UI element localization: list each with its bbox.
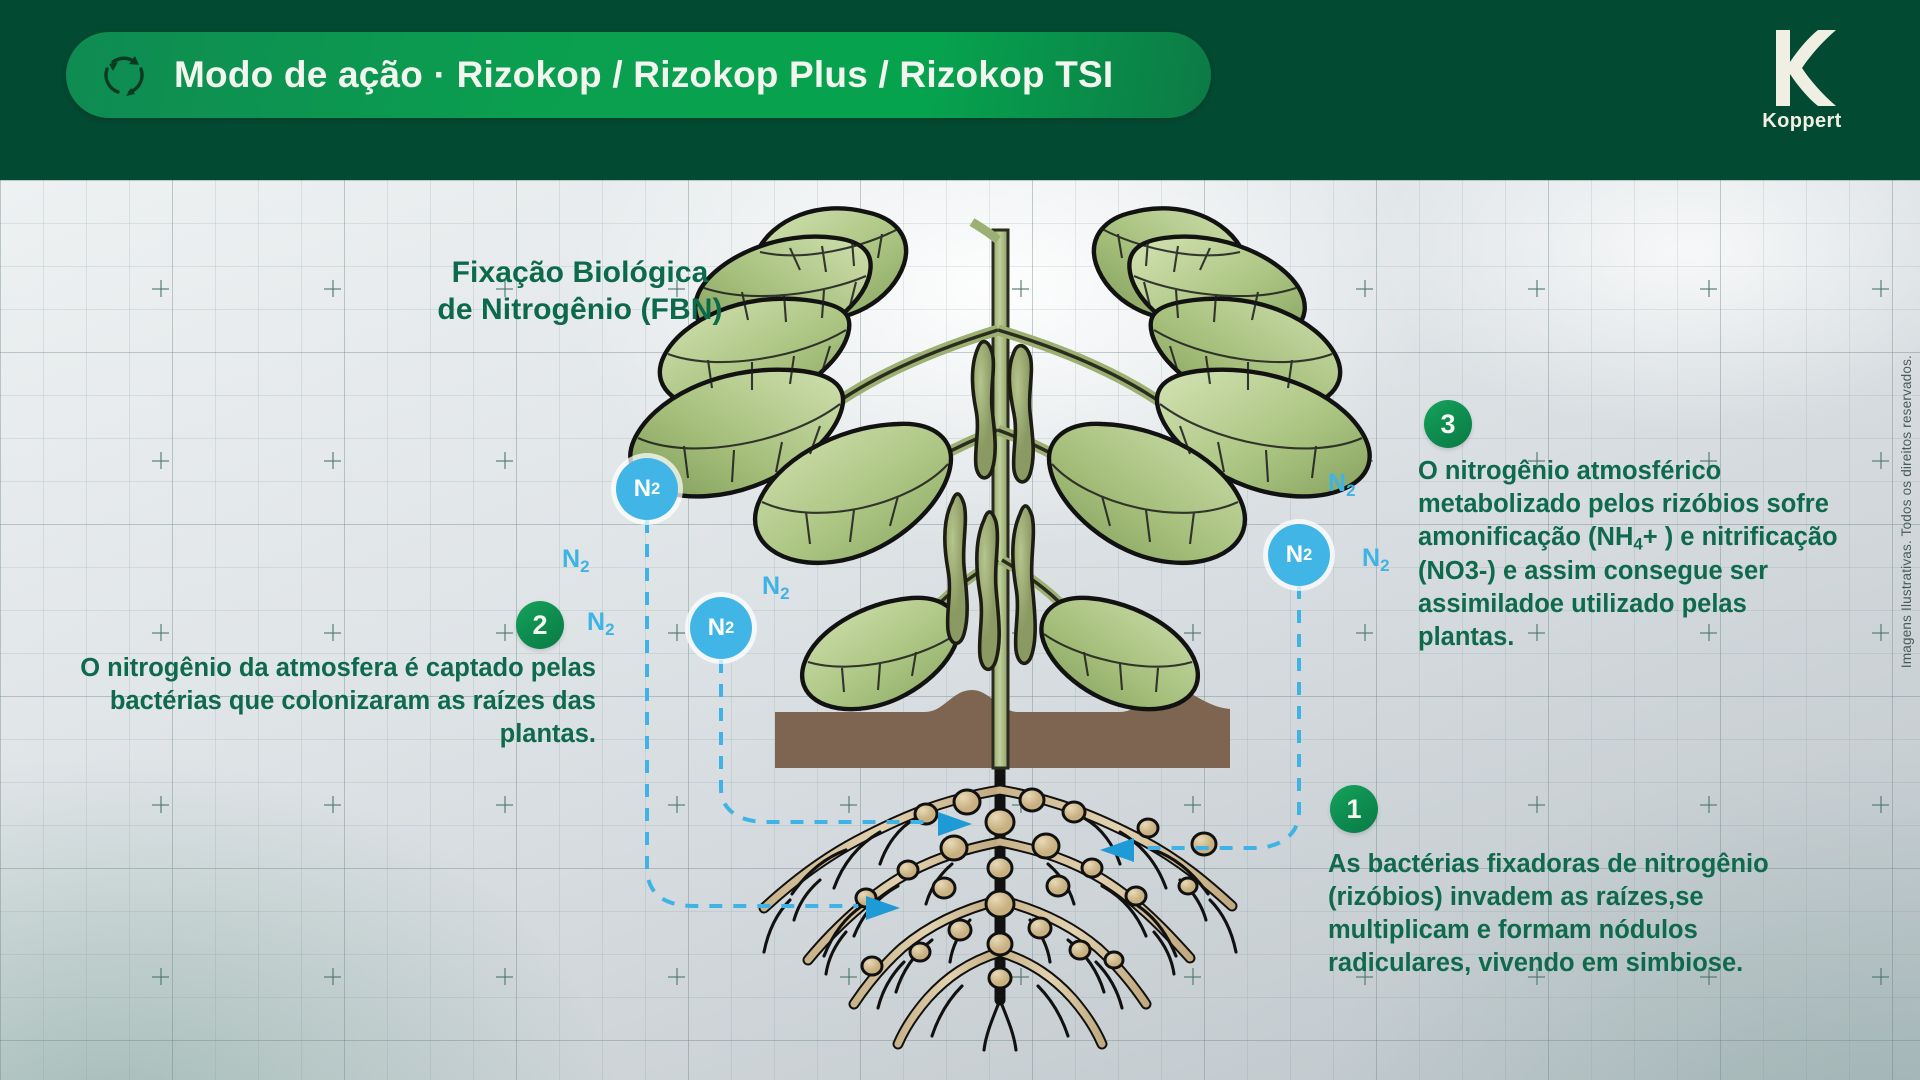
koppert-k-icon (1756, 22, 1848, 114)
n2-bubble: N2 (1268, 524, 1330, 586)
page-title-line2: de Nitrogênio (FBN) (410, 292, 750, 329)
step-text-1: As bactérias fixadoras de nitrogênio (ri… (1328, 848, 1776, 980)
page-title: Fixação Biológica de Nitrogênio (FBN) (410, 255, 750, 328)
n2-bubble: N2 (616, 458, 678, 520)
n2-label: N2 (1328, 469, 1356, 501)
step-badge-3: 3 (1424, 400, 1472, 448)
disclaimer-text: Imagens Ilustrativas. Todos os direitos … (1899, 355, 1914, 668)
n2-bubble: N2 (690, 597, 752, 659)
step-3-subscript: 4 (1633, 534, 1642, 553)
step-badge-2: 2 (516, 601, 564, 649)
cycle-arrows-icon (98, 50, 150, 102)
page-header: Modo de ação · Rizokop / Rizokop Plus / … (0, 0, 1920, 180)
step-text-2: O nitrogênio da atmosfera é captado pela… (60, 652, 596, 751)
soybean-pods (945, 342, 1035, 670)
infographic-root: Fixação Biológica de Nitrogênio (FBN) 2 … (0, 0, 1920, 1080)
koppert-wordmark: Koppert (1762, 110, 1841, 133)
n2-label: N2 (1362, 544, 1390, 576)
n2-label: N2 (562, 545, 590, 577)
page-title-line1: Fixação Biológica (410, 255, 750, 292)
koppert-logo: Koppert (1732, 22, 1872, 152)
plant-stem (993, 230, 1008, 768)
step-text-3: O nitrogênio atmosférico metabolizado pe… (1418, 455, 1848, 654)
header-title: Modo de ação · Rizokop / Rizokop Plus / … (174, 54, 1113, 96)
step-badge-1: 1 (1330, 785, 1378, 833)
n2-label: N2 (587, 608, 615, 640)
header-pill: Modo de ação · Rizokop / Rizokop Plus / … (66, 32, 1211, 118)
n2-label: N2 (762, 572, 790, 604)
